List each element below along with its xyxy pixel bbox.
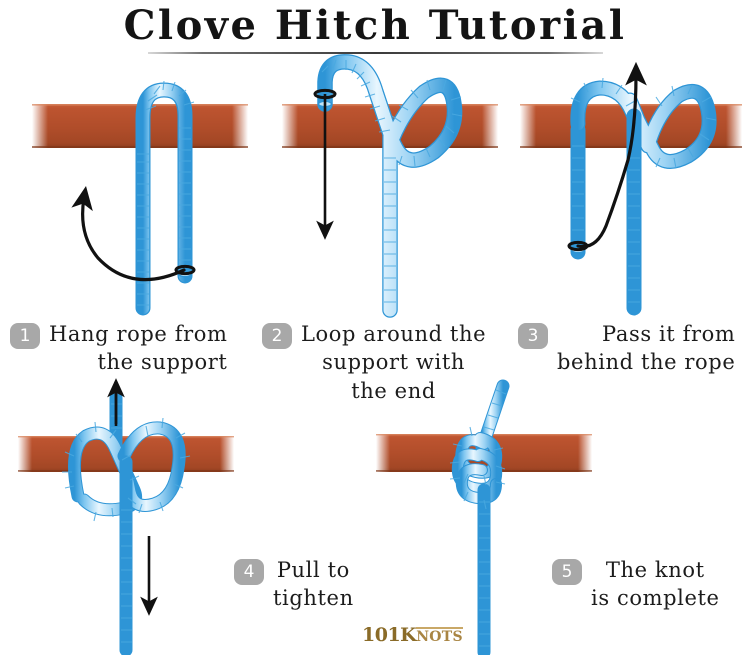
clove-hitch-step-1-diagram bbox=[12, 58, 262, 313]
step-2-line-3: the end bbox=[301, 377, 486, 405]
step-3-caption: 3 Pass it from behind the rope bbox=[518, 320, 748, 377]
step-4-line-2: tighten bbox=[273, 584, 354, 612]
rope-step-2 bbox=[319, 60, 462, 310]
step-5-badge: 5 bbox=[552, 559, 582, 585]
step-4-text: Pull to tighten bbox=[273, 556, 354, 613]
step-5-line-1: The knot bbox=[591, 556, 720, 584]
step-3-line-2: behind the rope bbox=[557, 348, 735, 376]
step-1-badge: 1 bbox=[10, 323, 40, 349]
step-2-caption: 2 Loop around the support with the end bbox=[262, 320, 510, 405]
rope-step-5-knot bbox=[450, 386, 506, 652]
step-2-text: Loop around the support with the end bbox=[301, 320, 486, 405]
step-3-text: Pass it from behind the rope bbox=[557, 320, 735, 377]
step-2-line-2: support with bbox=[301, 348, 486, 376]
logo-text-primary: 101K bbox=[362, 624, 416, 646]
step-1-line-2: the support bbox=[49, 348, 227, 376]
step-4-line-1: Pull to bbox=[273, 556, 354, 584]
site-logo[interactable]: 101KNOTS bbox=[362, 626, 463, 645]
step-5-line-2: is complete bbox=[591, 584, 720, 612]
step-3-line-1: Pass it from bbox=[557, 320, 735, 348]
step-2-badge: 2 bbox=[262, 323, 292, 349]
step-5-caption: 5 The knot is complete bbox=[552, 556, 744, 613]
page-title-container: Clove Hitch Tutorial bbox=[0, 4, 750, 54]
step-1-caption: 1 Hang rope from the support bbox=[10, 320, 250, 377]
step-2-line-1: Loop around the bbox=[301, 320, 486, 348]
step-5-text: The knot is complete bbox=[591, 556, 720, 613]
step-1-line-1: Hang rope from bbox=[49, 320, 227, 348]
arrow-up-head-4 bbox=[96, 378, 136, 428]
tutorial-page: Clove Hitch Tutorial bbox=[0, 0, 750, 655]
clove-hitch-step-2-diagram bbox=[268, 52, 508, 314]
clove-hitch-step-3-diagram bbox=[512, 54, 750, 312]
logo-text-secondary: NOTS bbox=[416, 627, 463, 645]
step-4-caption: 4 Pull to tighten bbox=[234, 556, 384, 613]
step-1-text: Hang rope from the support bbox=[49, 320, 227, 377]
page-title: Clove Hitch Tutorial bbox=[120, 4, 631, 54]
step-3-badge: 3 bbox=[518, 323, 548, 349]
step-4-badge: 4 bbox=[234, 559, 264, 585]
rope-step-4 bbox=[62, 398, 190, 650]
